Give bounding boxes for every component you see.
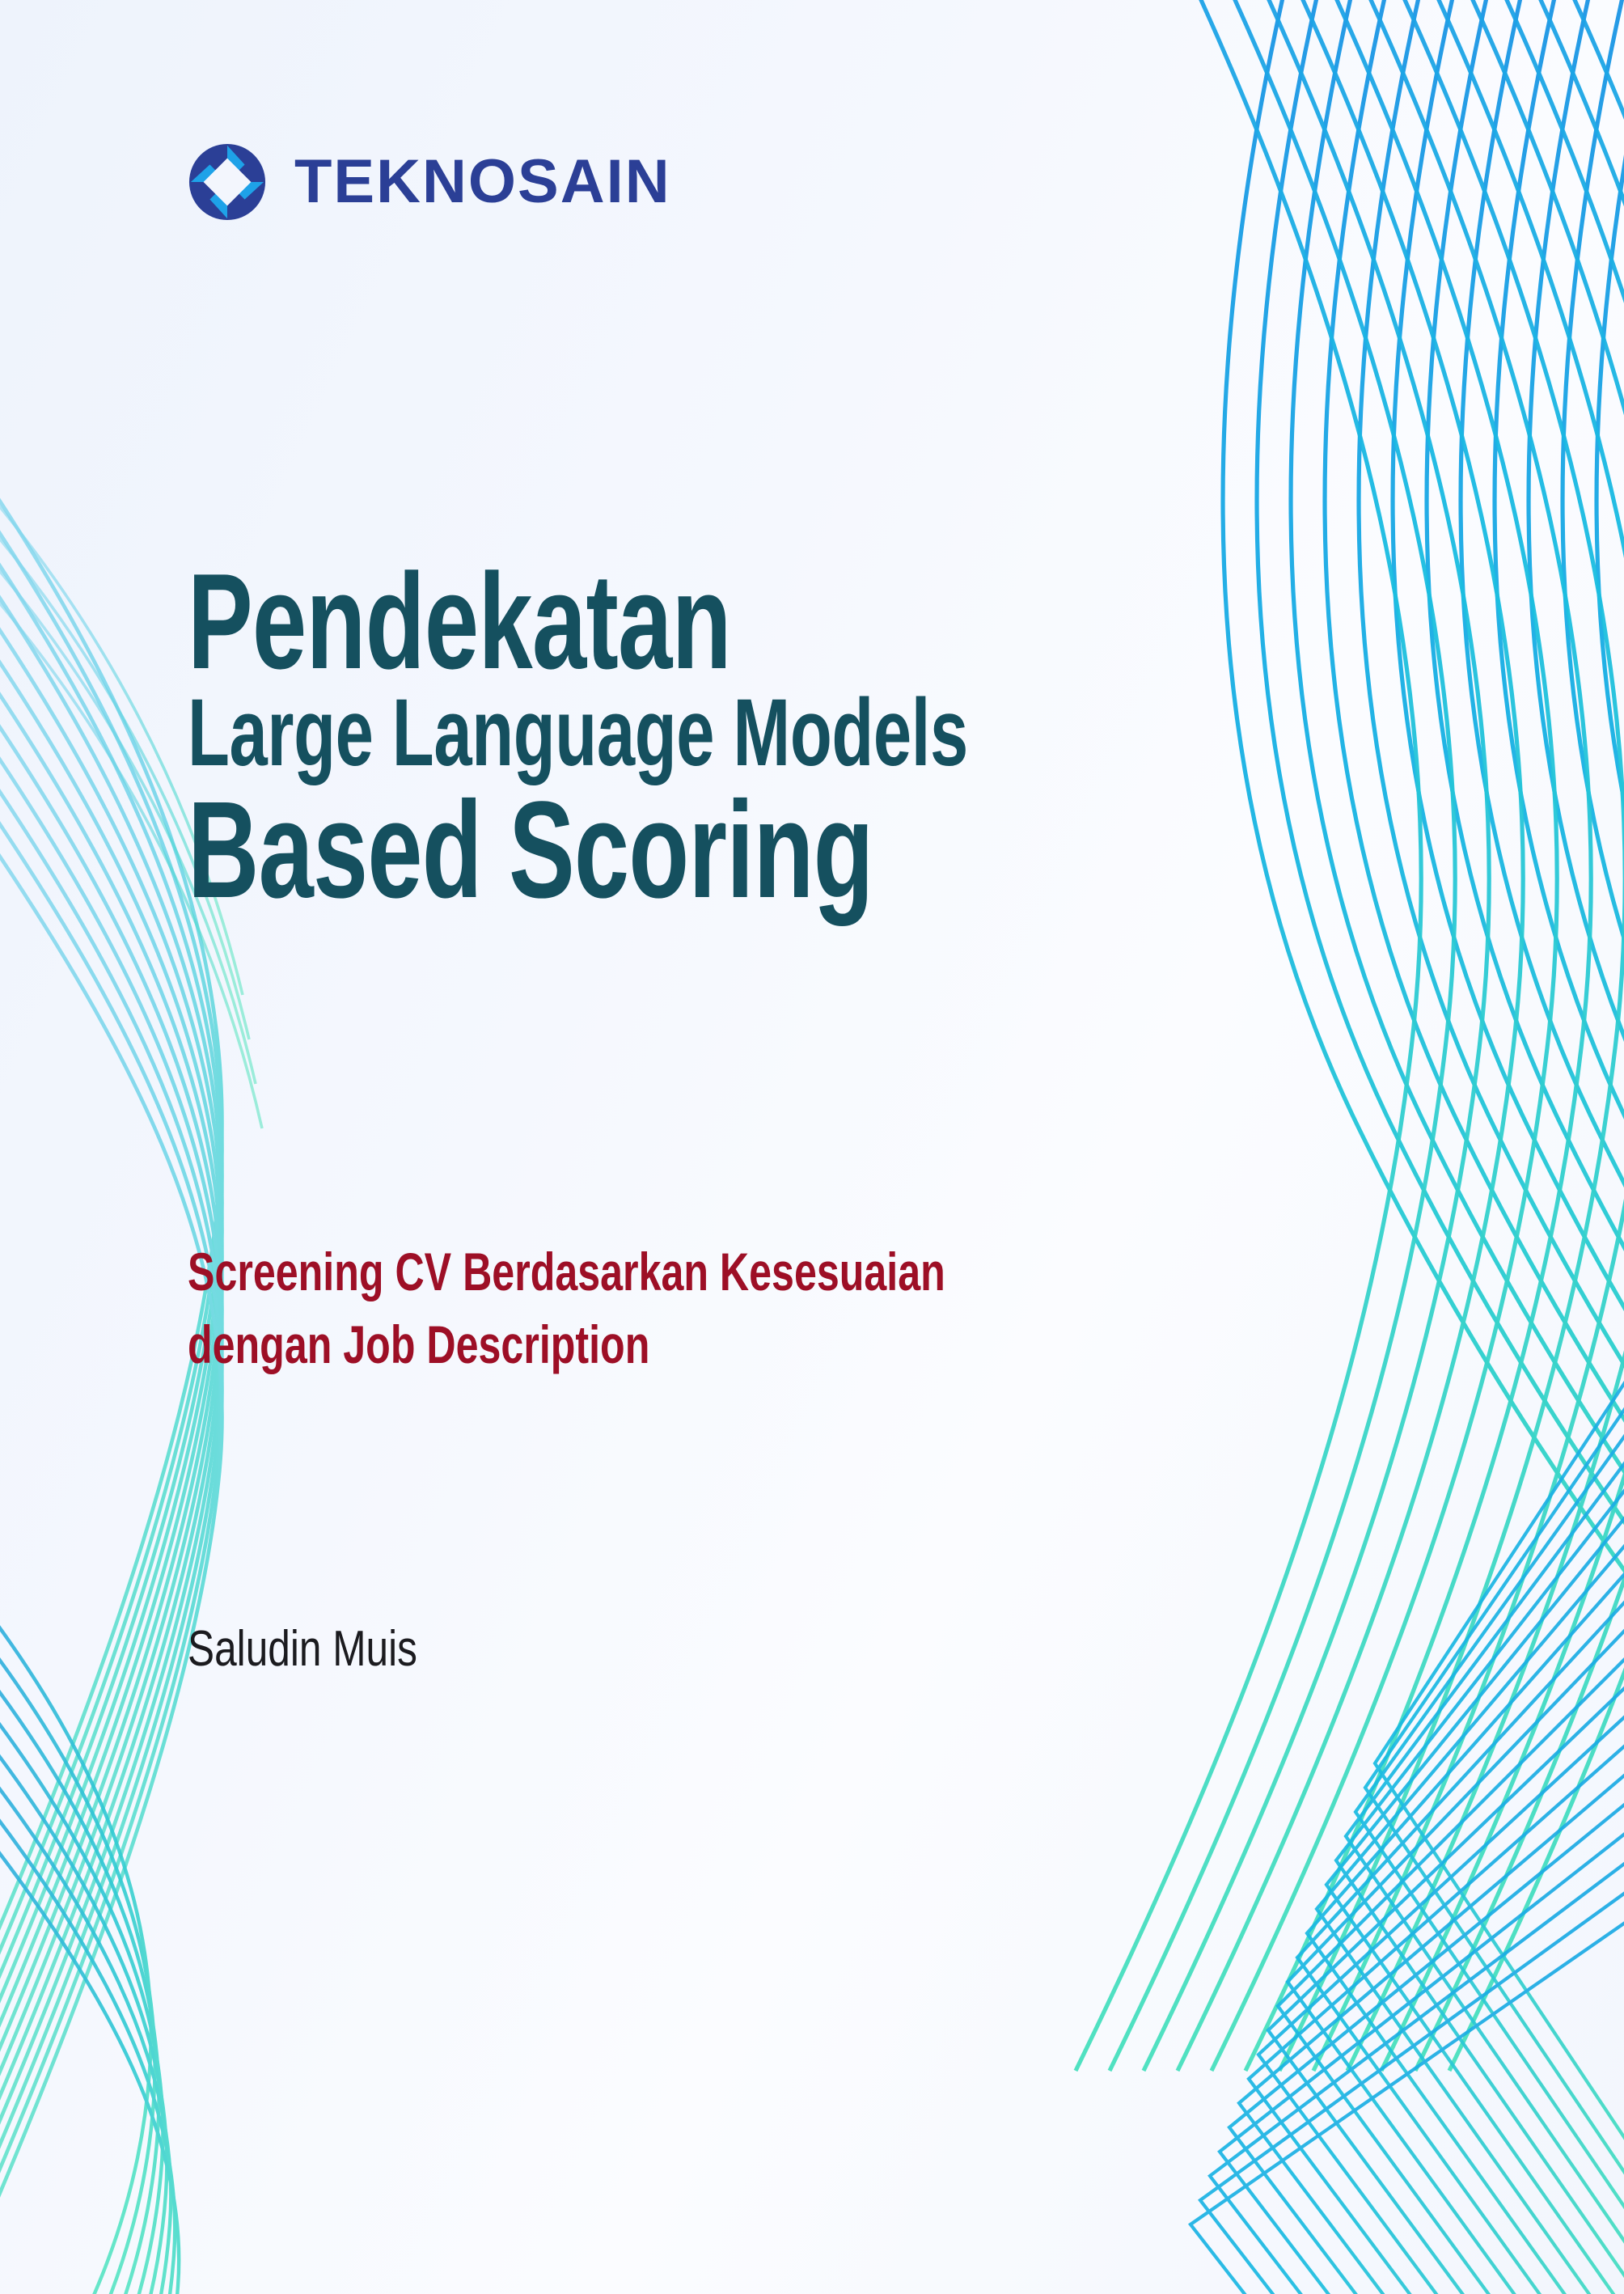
title-line-2: Large Language Models (188, 689, 1014, 778)
cover-author-block: Saludin Muis (188, 1624, 475, 1674)
teknosain-diamond-logo-icon (188, 142, 267, 222)
right-wave-decoration (0, 0, 1624, 2294)
cover-title-block: Pendekatan Large Language Models Based S… (188, 558, 1336, 914)
book-cover-page: TEKNOSAIN Pendekatan Large Language Mode… (0, 0, 1624, 2294)
title-line-1: Pendekatan (188, 558, 1014, 684)
cover-subtitle-block: Screening CV Berdasarkan Kesesuaian deng… (188, 1236, 1320, 1382)
subtitle-line-2: dengan Job Description (188, 1309, 1048, 1382)
background-sheen (0, 0, 1624, 2294)
title-line-3: Based Scoring (188, 786, 1014, 914)
subtitle-line-1: Screening CV Berdasarkan Kesesuaian (188, 1236, 1048, 1309)
brand-wordmark: TEKNOSAIN (294, 151, 671, 213)
author-name: Saludin Muis (188, 1624, 417, 1674)
brand-logo-row: TEKNOSAIN (188, 142, 671, 222)
